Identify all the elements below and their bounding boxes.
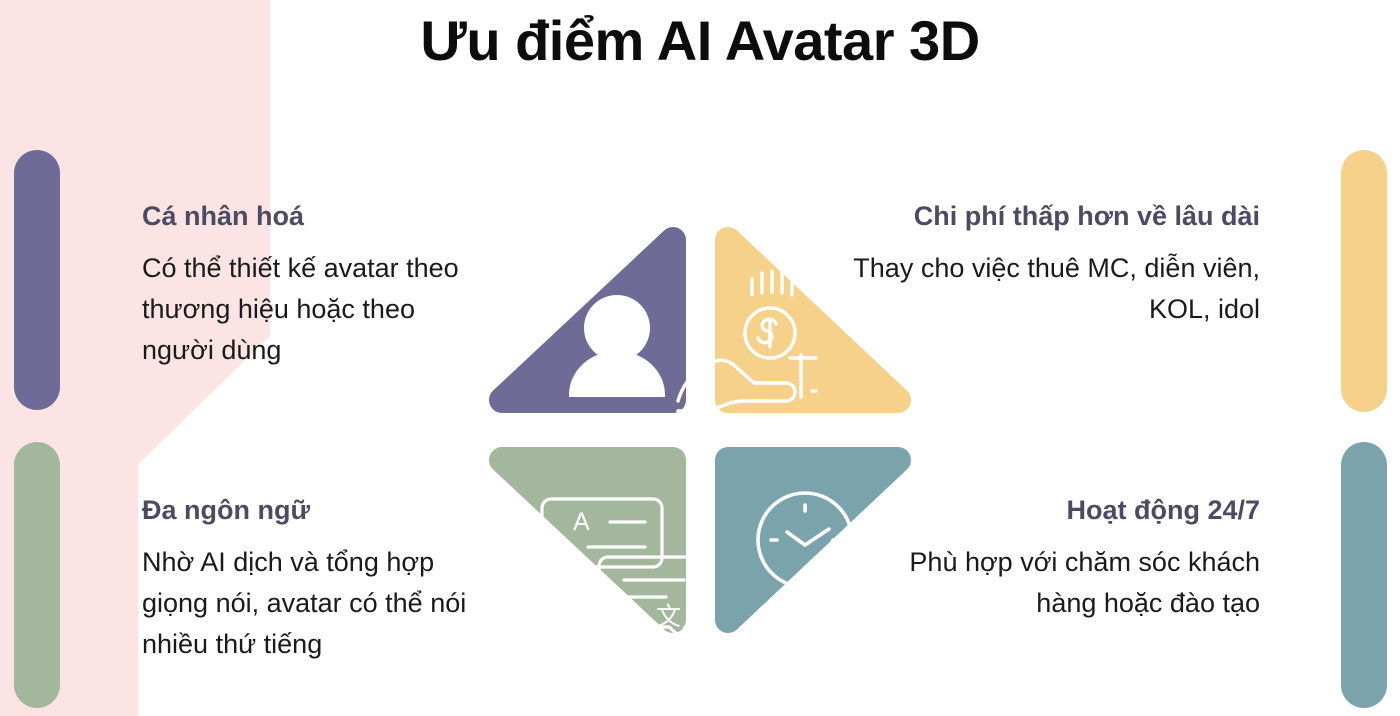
feature-block-multilingual: Đa ngôn ngữ Nhờ AI dịch và tổng hợp giọn… xyxy=(142,494,482,665)
page-title: Ưu điểm AI Avatar 3D xyxy=(0,8,1400,73)
feature-heading-availability: Hoạt động 24/7 xyxy=(880,494,1260,526)
feature-block-cost: Chi phí thấp hơn về lâu dài Thay cho việ… xyxy=(840,200,1260,330)
side-bar-right-top xyxy=(1341,150,1387,412)
slide-canvas: Ưu điểm AI Avatar 3D Cá nhân hoá Có thể … xyxy=(0,0,1400,716)
side-bar-right-bottom xyxy=(1341,442,1387,708)
feature-block-personalization: Cá nhân hoá Có thể thiết kế avatar theo … xyxy=(142,200,472,371)
triangle-personalization[interactable] xyxy=(502,240,673,400)
feature-body-multilingual: Nhờ AI dịch và tổng hợp giọng nói, avata… xyxy=(142,542,482,665)
triangle-multilingual[interactable] xyxy=(502,460,673,620)
side-bar-left-bottom xyxy=(14,442,60,708)
side-bar-left-top xyxy=(14,150,60,410)
feature-heading-cost: Chi phí thấp hơn về lâu dài xyxy=(840,200,1260,232)
triangle-availability[interactable] xyxy=(728,460,898,620)
feature-heading-personalization: Cá nhân hoá xyxy=(142,200,472,232)
feature-block-availability: Hoạt động 24/7 Phù hợp với chăm sóc khác… xyxy=(880,494,1260,624)
feature-body-cost: Thay cho việc thuê MC, diễn viên, KOL, i… xyxy=(840,248,1260,330)
feature-body-personalization: Có thể thiết kế avatar theo thương hiệu … xyxy=(142,248,472,371)
feature-heading-multilingual: Đa ngôn ngữ xyxy=(142,494,482,526)
feature-body-availability: Phù hợp với chăm sóc khách hàng hoặc đào… xyxy=(880,542,1260,624)
